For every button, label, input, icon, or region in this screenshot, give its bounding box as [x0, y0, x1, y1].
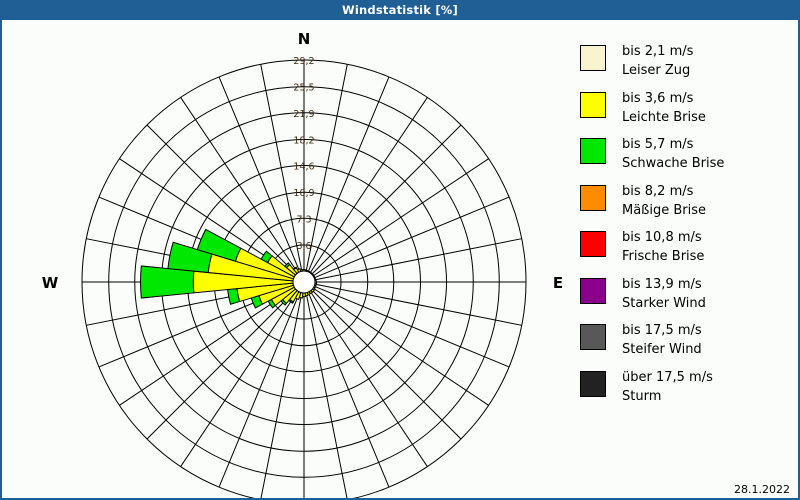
legend-item: bis 17,5 m/sSteifer Wind [580, 321, 790, 359]
legend-wind-name: Frische Brise [622, 247, 704, 266]
radial-tick-label-1: 3,6 [296, 241, 311, 252]
grid-spoke-SW [147, 290, 296, 439]
legend-color-swatch [580, 371, 606, 397]
legend-color-swatch [580, 45, 606, 71]
grid-spoke-NEbN [310, 97, 427, 272]
page-title: Windstatistik [%] [342, 3, 458, 17]
grid-spoke-ENE [314, 197, 509, 278]
legend-color-swatch [580, 278, 606, 304]
compass-label-west: W [42, 274, 59, 292]
legend-color-swatch [580, 231, 606, 257]
legend-speed-range: bis 5,7 m/s [622, 135, 724, 154]
grid-spoke-SSE [308, 292, 389, 487]
legend-wind-name: Steifer Wind [622, 340, 702, 359]
windrose-window: Windstatistik [%] 3,67,310,914,618,221,9… [0, 0, 800, 500]
legend-label: bis 3,6 m/sLeichte Brise [622, 89, 706, 127]
legend-item: bis 10,8 m/sFrische Brise [580, 228, 790, 266]
radial-tick-label-3: 10,9 [293, 188, 314, 199]
grid-spoke-SE [312, 290, 461, 439]
legend-label: bis 13,9 m/sStarker Wind [622, 275, 706, 313]
legend-item: über 17,5 m/sSturm [580, 368, 790, 406]
radial-tick-label-7: 25,5 [293, 83, 314, 94]
legend-label: bis 2,1 m/sLeiser Zug [622, 42, 693, 80]
legend-label: bis 17,5 m/sSteifer Wind [622, 321, 702, 359]
grid-spoke-NE [312, 125, 461, 274]
legend-speed-range: bis 8,2 m/s [622, 182, 706, 201]
legend-label: bis 5,7 m/sSchwache Brise [622, 135, 724, 173]
radial-tick-label-2: 7,3 [296, 214, 311, 225]
legend-speed-range: bis 17,5 m/s [622, 321, 702, 340]
wind-rose-chart: 3,67,310,914,618,221,925,529,2 NSWE [2, 20, 568, 498]
legend-speed-range: bis 10,8 m/s [622, 228, 704, 247]
grid-spoke-SEbS [310, 291, 427, 466]
legend-speed-range: bis 2,1 m/s [622, 42, 693, 61]
grid-spoke-NNE [308, 77, 389, 272]
radial-tick-label-6: 21,9 [293, 109, 314, 120]
legend-color-swatch [580, 324, 606, 350]
legend-label: bis 8,2 m/sMäßige Brise [622, 182, 706, 220]
legend-wind-name: Starker Wind [622, 294, 706, 313]
legend-color-swatch [580, 185, 606, 211]
legend-wind-name: Leiser Zug [622, 61, 693, 80]
legend-wind-name: Mäßige Brise [622, 201, 706, 220]
grid-spoke-ESE [314, 286, 509, 367]
grid-spoke-SWbS [181, 291, 298, 466]
compass-labels: NSWE [42, 30, 563, 498]
date-stamp: 28.1.2022 [734, 483, 790, 496]
radial-tick-label-4: 14,6 [293, 162, 314, 173]
legend-speed-range: bis 13,9 m/s [622, 275, 706, 294]
legend-item: bis 2,1 m/sLeiser Zug [580, 42, 790, 80]
window-title-bar: Windstatistik [%] [0, 0, 800, 20]
legend: bis 2,1 m/sLeiser Zugbis 3,6 m/sLeichte … [580, 42, 790, 414]
chart-panel: 3,67,310,914,618,221,925,529,2 NSWE bis … [0, 20, 800, 500]
legend-wind-name: Leichte Brise [622, 108, 706, 127]
compass-label-east: E [553, 274, 563, 292]
legend-color-swatch [580, 92, 606, 118]
compass-label-north: N [298, 30, 311, 48]
legend-item: bis 5,7 m/sSchwache Brise [580, 135, 790, 173]
grid-spoke-SbW [261, 293, 302, 498]
grid-spoke-NEbE [313, 159, 488, 276]
legend-label: bis 10,8 m/sFrische Brise [622, 228, 704, 266]
legend-speed-range: bis 3,6 m/s [622, 89, 706, 108]
grid-spoke-SSW [219, 292, 300, 487]
grid-spoke-SWbW [119, 288, 294, 405]
grid-spoke-EbN [315, 239, 522, 280]
grid-spoke-EbS [315, 284, 522, 325]
legend-label: über 17,5 m/sSturm [622, 368, 713, 406]
legend-item: bis 13,9 m/sStarker Wind [580, 275, 790, 313]
grid-spoke-SbE [306, 293, 347, 498]
legend-item: bis 3,6 m/sLeichte Brise [580, 89, 790, 127]
legend-wind-name: Schwache Brise [622, 154, 724, 173]
legend-wind-name: Sturm [622, 387, 713, 406]
radial-tick-label-5: 18,2 [293, 135, 314, 146]
legend-item: bis 8,2 m/sMäßige Brise [580, 182, 790, 220]
calm-center [293, 271, 315, 293]
grid-spoke-SEbE [313, 288, 488, 405]
calm-circle [293, 271, 315, 293]
legend-speed-range: über 17,5 m/s [622, 368, 713, 387]
radial-tick-label-8: 29,2 [293, 56, 314, 67]
legend-color-swatch [580, 138, 606, 164]
